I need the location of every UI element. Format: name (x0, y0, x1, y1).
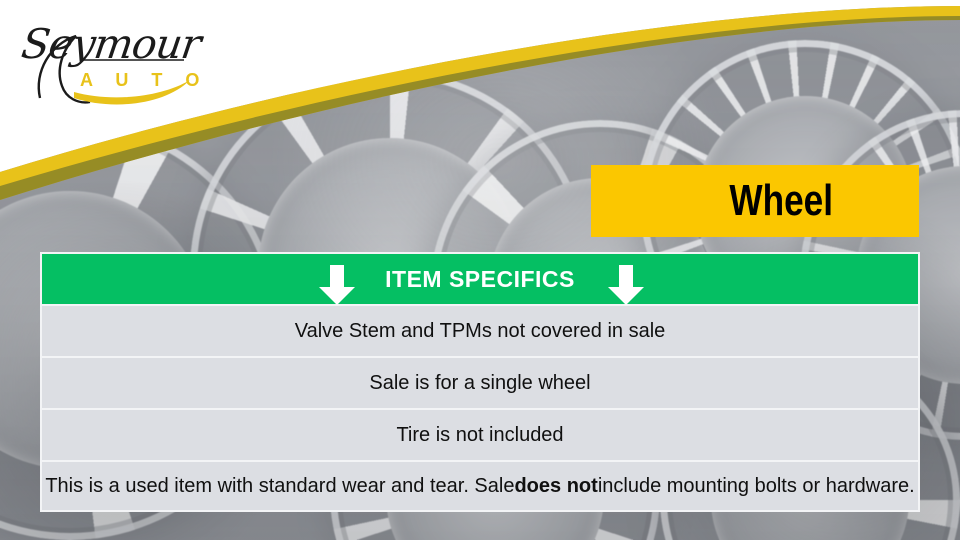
note-after: include mounting bolts or hardware. (598, 475, 915, 498)
note-emphasis: does not (514, 475, 597, 498)
table-row: Sale is for a single wheel (42, 358, 918, 408)
row-text: Tire is not included (396, 424, 563, 447)
row-text: Sale is for a single wheel (369, 372, 590, 395)
brand-logo[interactable]: Seymour A U T O (14, 14, 224, 106)
logo-swoosh-icon (14, 14, 224, 106)
table-row: Valve Stem and TPMs not covered in sale (42, 306, 918, 356)
item-specifics-table: ITEM SPECIFICS Valve Stem and TPMs not c… (40, 252, 920, 512)
slide: Seymour A U T O Wheel ITEM SPECIFICS Val… (0, 0, 960, 540)
product-title-banner: Wheel (591, 165, 919, 237)
table-row: Tire is not included (42, 410, 918, 460)
note-before: This is a used item with standard wear a… (45, 475, 514, 498)
product-title: Wheel (677, 176, 833, 226)
arrow-down-icon-left (318, 265, 356, 305)
item-specifics-header: ITEM SPECIFICS (42, 254, 918, 304)
row-text: Valve Stem and TPMs not covered in sale (295, 320, 666, 343)
item-specifics-label: ITEM SPECIFICS (385, 266, 575, 293)
arrow-down-icon-right (607, 265, 645, 305)
table-row-note: This is a used item with standard wear a… (42, 462, 918, 510)
